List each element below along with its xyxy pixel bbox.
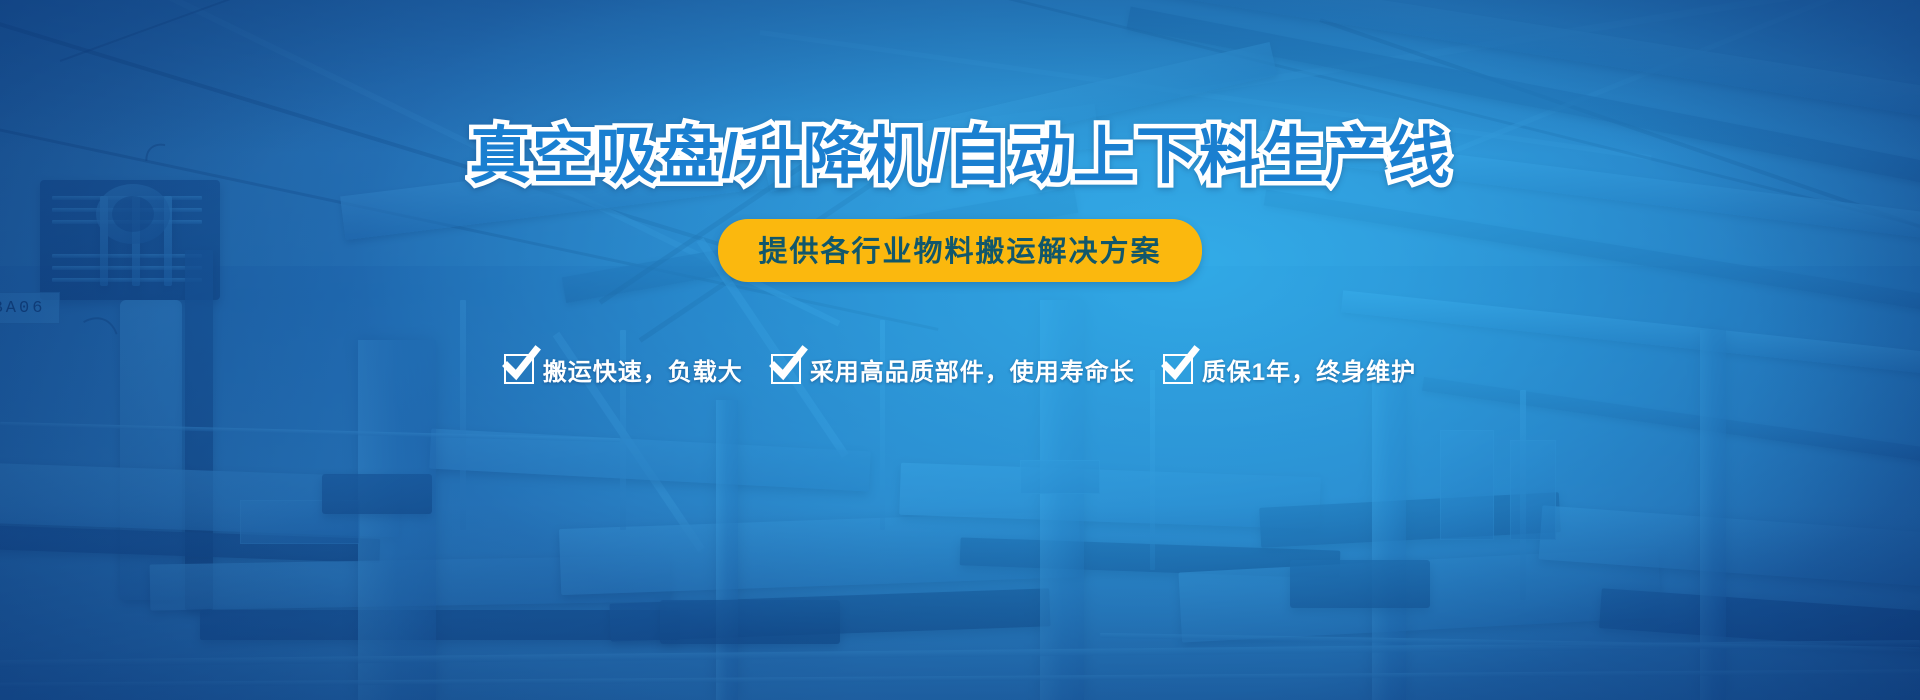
feature-label: 搬运快速，负载大 [543,352,743,387]
banner-subtitle-pill: 提供各行业物料搬运解决方案 [718,219,1201,282]
banner-headline: 真空吸盘/升降机/自动上下料生产线 [469,124,1450,191]
check-square-icon [771,354,801,384]
feature-item: 采用高品质部件，使用寿命长 [771,352,1135,387]
feature-list: 搬运快速，负载大 采用高品质部件，使用寿命长 质保1年，终身维护 [504,352,1416,387]
check-square-icon [1163,354,1193,384]
banner-content: 真空吸盘/升降机/自动上下料生产线 提供各行业物料搬运解决方案 搬运快速，负载大… [0,0,1920,700]
feature-item: 搬运快速，负载大 [504,352,743,387]
promo-banner: BA06 [0,0,1920,700]
feature-item: 质保1年，终身维护 [1163,352,1416,387]
feature-label: 质保1年，终身维护 [1202,352,1416,387]
check-square-icon [504,354,534,384]
feature-label: 采用高品质部件，使用寿命长 [810,352,1135,387]
